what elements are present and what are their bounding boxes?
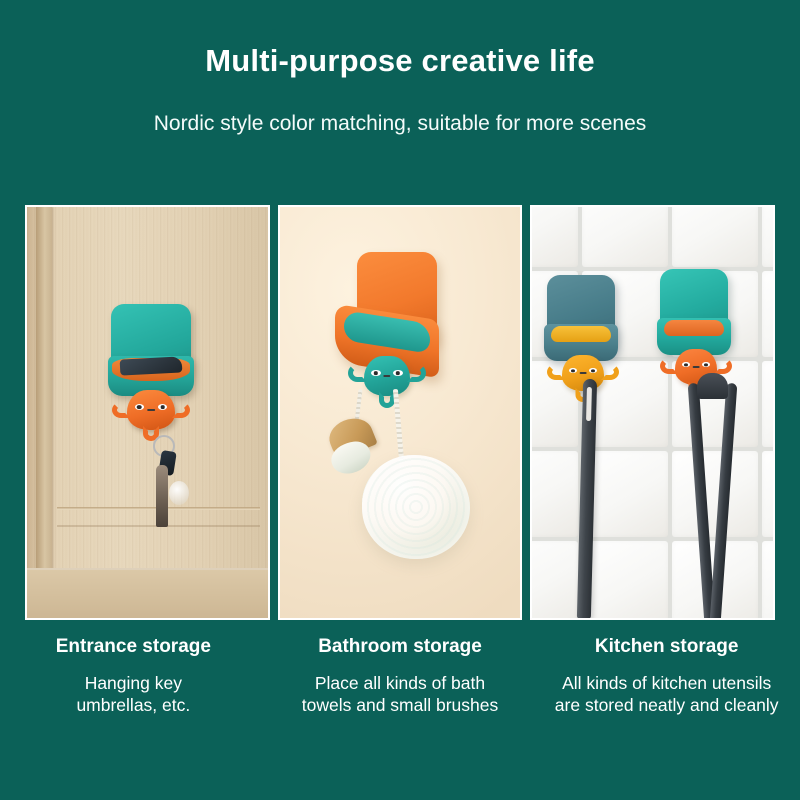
scene-panel-bathroom[interactable]: [278, 205, 522, 620]
caption-title: Bathroom storage: [273, 636, 528, 658]
tongs-joint: [697, 373, 728, 399]
crab-arm-right: [172, 402, 190, 418]
product-scene-gallery: [25, 205, 775, 620]
crab-figure: [364, 356, 410, 396]
product-hook-kitchen-left: [547, 275, 619, 395]
crab-arm-right: [601, 364, 619, 380]
tray-contents-phone: [120, 356, 183, 375]
scene-panel-entrance[interactable]: [25, 205, 270, 620]
wall-tile: [762, 451, 775, 537]
crab-mouth: [383, 375, 390, 377]
product-hook-kitchen-right: [660, 269, 732, 389]
wall-tile: [582, 205, 668, 267]
crab-arm-left: [547, 364, 565, 380]
wall-tile: [762, 361, 775, 447]
crystal-charm: [169, 481, 189, 505]
wall-tile: [530, 205, 578, 267]
caption-title: Kitchen storage: [539, 636, 794, 658]
tray-inner-teal: [344, 310, 430, 354]
header: Multi-purpose creative life Nordic style…: [0, 0, 800, 136]
wall-tile: [530, 541, 578, 620]
caption-description: All kinds of kitchen utensils are stored…: [539, 672, 794, 716]
kitchen-tongs: [682, 373, 742, 620]
wall-tile: [582, 541, 668, 620]
crab-figure: [127, 390, 175, 430]
spatula-hang-slot: [586, 387, 592, 421]
door-stile: [36, 207, 52, 618]
tray-inner-yellow: [551, 326, 611, 342]
product-hook-entrance: [111, 304, 191, 434]
crab-arm-right: [407, 364, 426, 382]
hanging-keys: [147, 435, 183, 545]
caption-title: Entrance storage: [6, 636, 261, 658]
crab-mouth: [147, 409, 155, 411]
wall-tile: [762, 541, 775, 620]
tray-inner-orange: [664, 320, 724, 336]
crab-arm-left: [348, 364, 367, 382]
wall-tile: [672, 205, 758, 267]
caption-kitchen: Kitchen storage All kinds of kitchen ute…: [533, 636, 800, 716]
caption-description: Hanging key umbrellas, etc.: [6, 672, 261, 716]
tongs-arm-right: [710, 383, 738, 620]
crab-arm-left: [112, 402, 130, 418]
bath-pouf-texture: [362, 455, 470, 559]
key-metal: [156, 465, 168, 527]
wall-tile: [762, 205, 775, 267]
crab-arm-right: [714, 358, 732, 374]
wall-tile: [530, 451, 578, 537]
wall-tile: [762, 271, 775, 357]
page-title: Multi-purpose creative life: [0, 44, 800, 78]
door-rail: [27, 568, 268, 618]
crab-mouth: [580, 372, 587, 374]
caption-entrance: Entrance storage Hanging key umbrellas, …: [0, 636, 267, 716]
product-hook-bathroom: [335, 252, 445, 402]
caption-row: Entrance storage Hanging key umbrellas, …: [0, 636, 800, 716]
scene-panel-kitchen[interactable]: [530, 205, 775, 620]
caption-bathroom: Bathroom storage Place all kinds of bath…: [267, 636, 534, 716]
tongs-arm-left: [688, 383, 716, 620]
page-subtitle: Nordic style color matching, suitable fo…: [0, 112, 800, 136]
crab-arm-left: [660, 358, 678, 374]
crab-mouth: [693, 366, 700, 368]
caption-description: Place all kinds of bath towels and small…: [273, 672, 528, 716]
